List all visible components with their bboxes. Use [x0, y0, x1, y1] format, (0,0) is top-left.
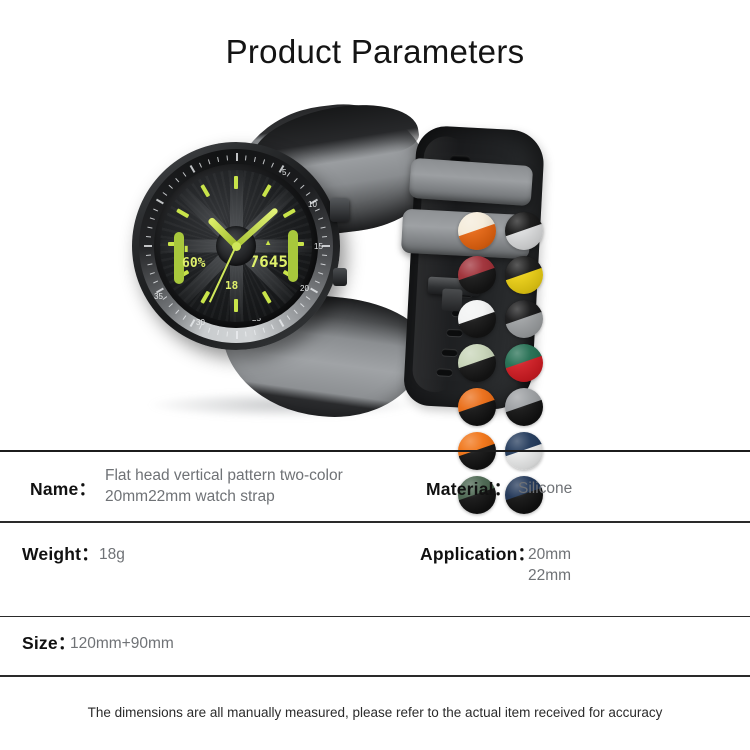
color-swatch[interactable]: [505, 344, 543, 382]
spec-cell-empty: [418, 617, 750, 675]
hour-marker: [176, 208, 189, 218]
color-swatch[interactable]: [458, 212, 496, 250]
bezel-tick: [300, 303, 304, 307]
bezel-tick: [226, 155, 228, 160]
bezel-tick: [182, 172, 186, 177]
hour-marker: [234, 299, 238, 312]
bezel-tick: [244, 331, 246, 336]
bezel-tick: [175, 310, 179, 314]
steps-arc: [288, 230, 298, 282]
bezel-tick: [207, 328, 209, 333]
bezel-number: 10: [308, 200, 317, 209]
name-label: Name：: [30, 476, 96, 501]
bezel-tick: [320, 263, 325, 265]
application-label: Application：: [420, 541, 535, 566]
spec-row-name: Name： Flat head vertical pattern two-col…: [0, 452, 750, 521]
spec-cell-material: Material： Silicone: [418, 452, 750, 521]
swatch-gloss: [505, 212, 543, 250]
bezel-tick: [236, 153, 238, 161]
bezel-tick: [286, 172, 290, 177]
bezel-tick: [189, 165, 195, 173]
bezel-tick: [293, 178, 297, 182]
page-title: Product Parameters: [0, 33, 750, 71]
divider: [0, 675, 750, 677]
bezel-tick: [199, 163, 202, 168]
color-swatch[interactable]: [458, 256, 496, 294]
bezel-tick: [253, 157, 255, 162]
spec-table: Name： Flat head vertical pattern two-col…: [0, 450, 750, 677]
swatch-gloss: [458, 256, 496, 294]
bezel-tick: [320, 227, 325, 229]
bezel-number: 20: [300, 284, 309, 293]
hour-marker: [283, 208, 296, 218]
spec-row-weight: Weight： 18g Application： 20mm 22mm: [0, 523, 750, 616]
battery-icon: ▮: [184, 244, 188, 253]
bezel-tick: [253, 330, 255, 335]
strap-keeper-loop: [409, 158, 533, 206]
color-swatch[interactable]: [505, 212, 543, 250]
bezel-tick: [182, 315, 186, 320]
bezel-tick: [310, 288, 318, 294]
bezel-tick: [147, 227, 152, 229]
color-swatch[interactable]: [458, 300, 496, 338]
bezel-tick: [226, 331, 228, 336]
bezel-tick: [318, 272, 323, 274]
hour-marker: [262, 291, 272, 304]
color-swatch[interactable]: [505, 256, 543, 294]
bezel-tick: [168, 185, 172, 189]
spec-cell-size: Size： 120mm+90mm: [0, 617, 418, 675]
bezel-number: 5: [282, 168, 286, 177]
swatch-gloss: [505, 300, 543, 338]
bezel-tick: [168, 303, 172, 307]
bezel-tick: [321, 236, 326, 238]
battery-readout: 60%: [182, 256, 205, 271]
footsteps-icon: ▲: [264, 238, 272, 247]
date-readout: 18: [225, 279, 238, 292]
swatch-gloss: [458, 212, 496, 250]
bezel-tick: [321, 254, 326, 256]
product-hero: 5 10 15 20 25 30 35: [0, 100, 750, 440]
watch-dial: ▮ 60% ▲ 7645 18: [160, 170, 312, 322]
bezel-tick: [305, 296, 310, 300]
weight-label: Weight：: [22, 541, 99, 566]
bezel-tick: [314, 281, 319, 284]
bezel-tick: [217, 157, 219, 162]
bezel-tick: [236, 331, 238, 339]
bezel-tick: [300, 185, 304, 189]
swatch-gloss: [505, 344, 543, 382]
bezel-tick: [145, 236, 150, 238]
color-swatch[interactable]: [505, 300, 543, 338]
bezel-tick: [207, 159, 209, 164]
hour-marker: [262, 184, 272, 197]
bezel-tick: [286, 315, 290, 320]
strap-hole: [441, 348, 457, 356]
bezel-tick: [153, 209, 158, 212]
swatch-gloss: [505, 388, 543, 426]
bezel-tick: [155, 199, 163, 205]
hour-marker: [200, 184, 210, 197]
spec-row-size: Size： 120mm+90mm: [0, 617, 750, 675]
bezel-tick: [305, 192, 310, 196]
spec-cell-application: Application： 20mm 22mm: [418, 523, 750, 616]
bezel-tick: [244, 155, 246, 160]
bezel-tick: [271, 324, 274, 329]
bezel-tick: [293, 310, 297, 314]
bezel-tick: [189, 319, 195, 327]
bezel-tick: [217, 330, 219, 335]
weight-value: 18g: [99, 544, 125, 565]
watch-crown: [330, 198, 349, 222]
bezel-tick: [153, 281, 158, 284]
bezel-tick: [144, 245, 152, 247]
bezel-number: 35: [154, 292, 163, 301]
swatch-gloss: [458, 344, 496, 382]
color-swatch[interactable]: [505, 388, 543, 426]
size-label: Size：: [22, 630, 76, 655]
bezel-tick: [262, 328, 264, 333]
hands-pivot: [232, 242, 241, 251]
bezel-tick: [175, 178, 179, 182]
color-swatch[interactable]: [458, 388, 496, 426]
bezel-tick: [262, 159, 264, 164]
hour-marker: [234, 176, 238, 189]
bezel-number: 30: [196, 318, 205, 327]
bezel-tick: [147, 263, 152, 265]
bezel-tick: [162, 192, 167, 196]
spec-cell-weight: Weight： 18g: [0, 523, 418, 616]
disclaimer-text: The dimensions are all manually measured…: [0, 705, 750, 720]
application-value: 20mm 22mm: [528, 544, 571, 586]
swatch-gloss: [505, 256, 543, 294]
bezel-tick: [145, 254, 150, 256]
steps-readout: 7645: [249, 252, 288, 271]
product-image: 5 10 15 20 25 30 35: [110, 100, 450, 435]
color-swatch[interactable]: [458, 344, 496, 382]
name-value: Flat head vertical pattern two-color 20m…: [105, 465, 405, 507]
swatch-gloss: [458, 300, 496, 338]
bezel-tick: [271, 163, 274, 168]
bezel-tick: [318, 217, 323, 219]
bezel-tick: [149, 217, 154, 219]
swatch-gloss: [458, 388, 496, 426]
size-value: 120mm+90mm: [70, 633, 174, 654]
strap-hole: [436, 368, 452, 376]
watch-body: 5 10 15 20 25 30 35: [132, 142, 340, 350]
bezel-tick: [278, 319, 284, 327]
bezel-tick: [149, 272, 154, 274]
bezel-number: 15: [314, 242, 323, 251]
spec-cell-name: Name： Flat head vertical pattern two-col…: [0, 452, 418, 521]
watch-pusher: [333, 268, 347, 286]
material-label: Material：: [426, 476, 511, 501]
material-value: Silicone: [518, 478, 572, 499]
